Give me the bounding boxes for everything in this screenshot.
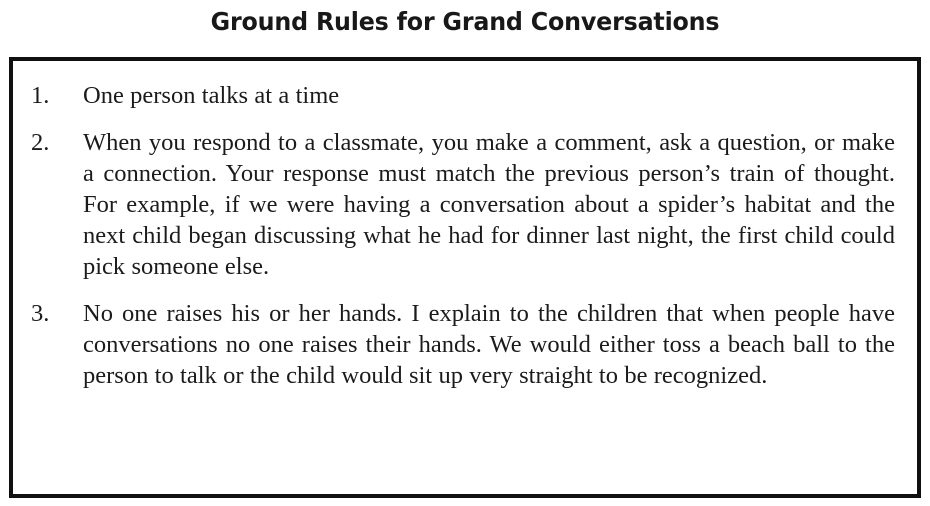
list-item: 3. No one raises his or her hands. I exp… <box>29 298 895 391</box>
list-item-text: No one raises his or her hands. I explai… <box>83 298 895 391</box>
list-item: 1. One person talks at a time <box>29 80 895 111</box>
list-item-number: 1. <box>29 80 83 111</box>
page-title: Ground Rules for Grand Conversations <box>23 0 907 37</box>
list-item-number: 3. <box>29 298 83 329</box>
rules-box: 1. One person talks at a time 2. When yo… <box>9 57 921 498</box>
rules-list: 1. One person talks at a time 2. When yo… <box>13 61 917 391</box>
list-item: 2. When you respond to a classmate, you … <box>29 127 895 282</box>
list-item-text: When you respond to a classmate, you mak… <box>83 127 895 282</box>
list-item-number: 2. <box>29 127 83 158</box>
list-item-text: One person talks at a time <box>83 80 895 111</box>
document-page: Ground Rules for Grand Conversations 1. … <box>0 0 930 506</box>
